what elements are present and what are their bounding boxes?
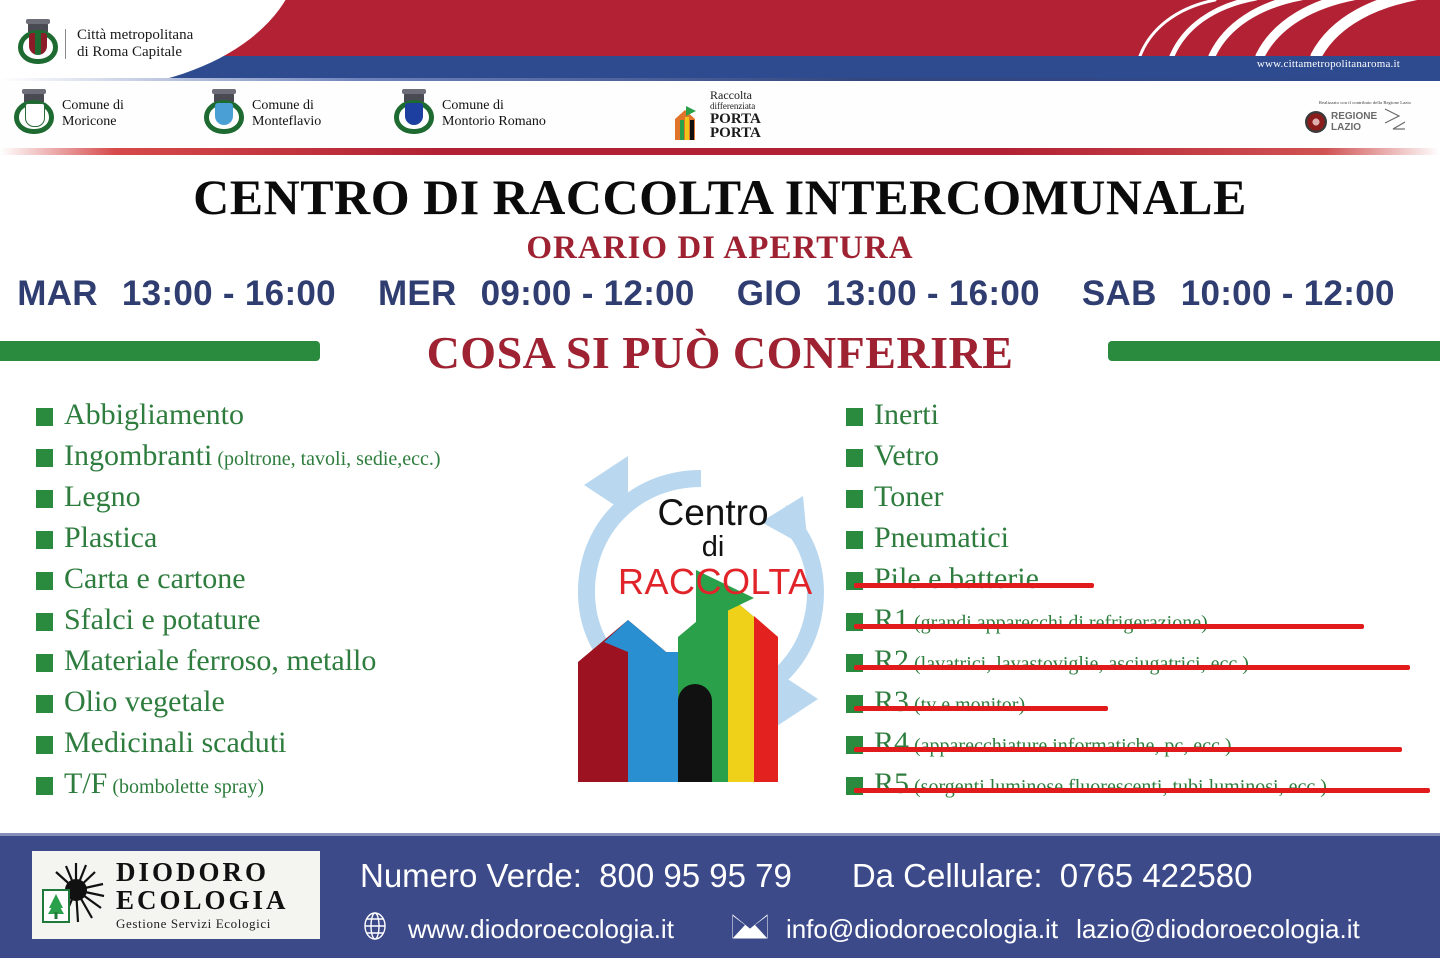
strikethrough-line [854,583,1094,588]
hours-item-sab: SAB 10:00 - 12:00 [1082,274,1409,313]
mobile-number-block: Da Cellulare: 0765 422580 [852,857,1253,895]
square-bullet-icon [846,408,863,426]
square-bullet-icon [846,531,863,549]
accepted-items-right-column: InertiVetroTonerPneumaticiPile e batteri… [846,398,1426,808]
pap-line1: Raccolta [710,90,761,101]
hours-time-mar: 13:00 - 16:00 [122,274,336,313]
opening-hours-row: MAR 13:00 - 16:00MER 09:00 - 12:00GIO 13… [0,274,1440,314]
accepted-item: R4 (apparecchiature informatiche, pc, ec… [846,726,1426,767]
green-number-block: Numero Verde: 800 95 95 79 [360,857,792,895]
accepted-item: R5 (sorgenti luminose fluorescenti, tubi… [846,767,1426,808]
diodoro-line3: Gestione Servizi Ecologici [116,917,289,930]
regione-lazio-body: REGIONE LAZIO [1305,107,1423,136]
hours-day-gio: GIO [737,274,802,313]
green-number-label: Numero Verde: [360,857,582,894]
accepted-item: Medicinali scaduti [36,726,596,767]
header-swoosh-icon [1120,0,1440,56]
logo-divider [65,29,66,59]
comune-1-line1: Comune di [252,98,321,114]
footer-contact-row: www.diodoroecologia.it info@diodoroecolo… [360,911,1430,948]
centro-di-raccolta-logo: Centro di RACCOLTA [556,452,846,812]
metro-line1: Città metropolitana [77,27,193,43]
section-heading: COSA SI PUÒ CONFERIRE [0,326,1440,379]
comune-montorio-romano: Comune di Montorio Romano [394,92,624,136]
square-bullet-icon [846,490,863,508]
accepted-item-label: Sfalci e potature [64,603,261,637]
footer-email-2[interactable]: lazio@diodoroecologia.it [1076,914,1360,945]
metro-website-url[interactable]: www.cittametropolitanaroma.it [1257,58,1400,70]
accepted-item-label: Materiale ferroso, metallo [64,644,376,678]
accepted-item-label: Ingombranti (poltrone, tavoli, sedie,ecc… [64,439,441,476]
poster-root: Città metropolitana di Roma Capitale www… [0,0,1440,958]
square-bullet-icon [36,572,53,590]
comune-monteflavio-label: Comune di Monteflavio [252,98,321,130]
square-bullet-icon [36,777,53,795]
metro-line2: di Roma Capitale [77,44,193,61]
comuni-row: Comune di Moricone Comune di Monteflavio [14,92,624,136]
hours-item-mer: MER 09:00 - 12:00 [378,274,709,313]
comune-2-line1: Comune di [442,98,546,114]
hours-time-gio: 13:00 - 16:00 [826,274,1040,313]
accepted-item: R1 (grandi apparecchi di refrigerazione) [846,603,1426,644]
accepted-item: Toner [846,480,1426,521]
accepted-item: Sfalci e potature [36,603,596,644]
page-title: CENTRO DI RACCOLTA INTERCOMUNALE [0,168,1440,226]
comune-monteflavio: Comune di Monteflavio [204,92,394,136]
accepted-item-label: Medicinali scaduti [64,726,286,760]
footer-email-1[interactable]: info@diodoroecologia.it [786,914,1058,945]
hours-time-sab: 10:00 - 12:00 [1181,274,1395,313]
accepted-item-label: Vetro [874,439,939,473]
accepted-item-label: R2 (lavatrici, lavastoviglie, asciugatri… [874,644,1249,681]
accepted-item-note: (grandi apparecchi di refrigerazione) [909,612,1208,634]
square-bullet-icon [36,695,53,713]
footer-website[interactable]: www.diodoroecologia.it [408,914,674,945]
accepted-item: Olio vegetale [36,685,596,726]
mobile-number-label: Da Cellulare: [852,857,1043,894]
accepted-item: R3 (tv e monitor) [846,685,1426,726]
crest-montorio-icon [394,92,434,136]
square-bullet-icon [36,613,53,631]
accepted-item-label: Inerti [874,398,939,432]
hours-day-mar: MAR [17,274,98,313]
square-bullet-icon [36,408,53,426]
accepted-item: Inerti [846,398,1426,439]
accepted-item: Materiale ferroso, metallo [36,644,596,685]
pap-line5: PORTA [710,126,761,140]
diodoro-ecologia-logo: DIODORO ECOLOGIA Gestione Servizi Ecolog… [32,851,320,939]
square-bullet-icon [846,449,863,467]
globe-icon [360,911,390,948]
mobile-number-value[interactable]: 0765 422580 [1060,857,1253,894]
comune-2-line2: Montorio Romano [442,114,546,130]
hours-item-mar: MAR 13:00 - 16:00 [17,274,350,313]
tree-burst-icon [42,862,106,929]
porta-a-porta-logo: Raccolta differenziata PORTA PORTA [672,90,782,142]
diodoro-line2: ECOLOGIA [116,887,289,915]
accepted-item-label: Pneumatici [874,521,1009,555]
coat-of-arms-icon [18,22,58,66]
accepted-item-label: Pile e batterie [874,562,1039,596]
cdr-line3: RACCOLTA [618,564,808,600]
accepted-item: Vetro [846,439,1426,480]
accepted-item: Legno [36,480,596,521]
page-header: Città metropolitana di Roma Capitale www… [0,0,1440,158]
accepted-item-label: Legno [64,480,141,514]
green-number-value[interactable]: 800 95 95 79 [599,857,792,894]
accepted-item: Carta e cartone [36,562,596,603]
strikethrough-line [854,624,1364,629]
diodoro-line1: DIODORO [116,859,289,887]
footer-top-sheen [0,833,1440,836]
accepted-item-note: (sorgenti luminose fluorescenti, tubi lu… [909,776,1327,798]
comune-moricone-label: Comune di Moricone [62,98,124,130]
accepted-item-label: Olio vegetale [64,685,225,719]
header-bottom-red-line [0,148,1440,155]
accepted-item: Pneumatici [846,521,1426,562]
hours-time-mer: 09:00 - 12:00 [481,274,695,313]
footer-phone-row: Numero Verde: 800 95 95 79 Da Cellulare:… [360,857,1420,895]
accepted-item-note: (poltrone, tavoli, sedie,ecc.) [212,448,440,470]
opening-hours-subtitle: ORARIO DI APERTURA [0,230,1440,267]
strikethrough-line [854,706,1108,711]
comune-1-line2: Monteflavio [252,114,321,130]
strikethrough-line [854,788,1430,793]
citta-metropolitana-logo: Città metropolitana di Roma Capitale [18,22,193,66]
accepted-item: T/F (bombolette spray) [36,767,596,808]
regione-line1: REGIONE [1331,111,1377,122]
square-bullet-icon [36,490,53,508]
square-bullet-icon [36,531,53,549]
section-heading-row: COSA SI PUÒ CONFERIRE [0,326,1440,386]
square-bullet-icon [36,654,53,672]
crest-monteflavio-icon [204,92,244,136]
citta-metropolitana-text: Città metropolitana di Roma Capitale [77,27,193,61]
accepted-item-label: Carta e cartone [64,562,246,596]
comune-montorio-label: Comune di Montorio Romano [442,98,546,130]
accepted-item: R2 (lavatrici, lavastoviglie, asciugatri… [846,644,1426,685]
porta-a-porta-text: Raccolta differenziata PORTA PORTA [710,90,761,140]
accepted-item-note: (lavatrici, lavastoviglie, asciugatrici,… [909,653,1249,675]
square-bullet-icon [36,449,53,467]
accepted-item-label: Plastica [64,521,157,555]
accepted-item-label: Toner [874,480,944,514]
accepted-item: Plastica [36,521,596,562]
cdr-line1: Centro [618,494,808,531]
comune-0-line1: Comune di [62,98,124,114]
accepted-item-note: (tv e monitor) [909,694,1025,716]
accepted-items-left-column: AbbigliamentoIngombranti (poltrone, tavo… [36,398,596,808]
accepted-item: Abbigliamento [36,398,596,439]
crest-moricone-icon [14,92,54,136]
comune-moricone: Comune di Moricone [14,92,204,136]
accepted-item-note: (bombolette spray) [107,776,264,798]
header-divider-line [0,78,1440,81]
accepted-item: Pile e batterie [846,562,1426,603]
accepted-item-note: (apparecchiature informatiche, pc, ecc.) [909,735,1232,757]
regione-lazio-logo: Realizzato con il contributo della Regio… [1305,100,1423,144]
regione-chevron-icon [1383,107,1409,136]
page-footer: DIODORO ECOLOGIA Gestione Servizi Ecolog… [0,833,1440,958]
accepted-item: Ingombranti (poltrone, tavoli, sedie,ecc… [36,439,596,480]
regione-lazio-caption: Realizzato con il contributo della Regio… [1319,100,1423,105]
cdr-line2: di [618,533,808,562]
accepted-item-label: R4 (apparecchiature informatiche, pc, ec… [874,726,1232,763]
house-icon [672,104,708,140]
strikethrough-line [854,747,1402,752]
regione-lazio-words: REGIONE LAZIO [1331,111,1377,133]
accepted-item-label: R1 (grandi apparecchi di refrigerazione) [874,603,1208,640]
accepted-item-label: R3 (tv e monitor) [874,685,1025,722]
accepted-item-label: Abbigliamento [64,398,244,432]
accepted-item-label: R5 (sorgenti luminose fluorescenti, tubi… [874,767,1327,804]
hours-day-mer: MER [378,274,457,313]
comune-0-line2: Moricone [62,114,124,130]
hours-item-gio: GIO 13:00 - 16:00 [737,274,1054,313]
diodoro-text: DIODORO ECOLOGIA Gestione Servizi Ecolog… [116,859,289,930]
centro-di-raccolta-text: Centro di RACCOLTA [618,494,808,600]
square-bullet-icon [36,736,53,754]
hours-day-sab: SAB [1082,274,1157,313]
accepted-item-label: T/F (bombolette spray) [64,767,264,804]
regione-line2: LAZIO [1331,122,1377,133]
strikethrough-line [854,665,1410,670]
pap-line3: PORTA [710,112,761,126]
envelope-icon [732,913,768,946]
regione-seal-icon [1305,111,1327,133]
